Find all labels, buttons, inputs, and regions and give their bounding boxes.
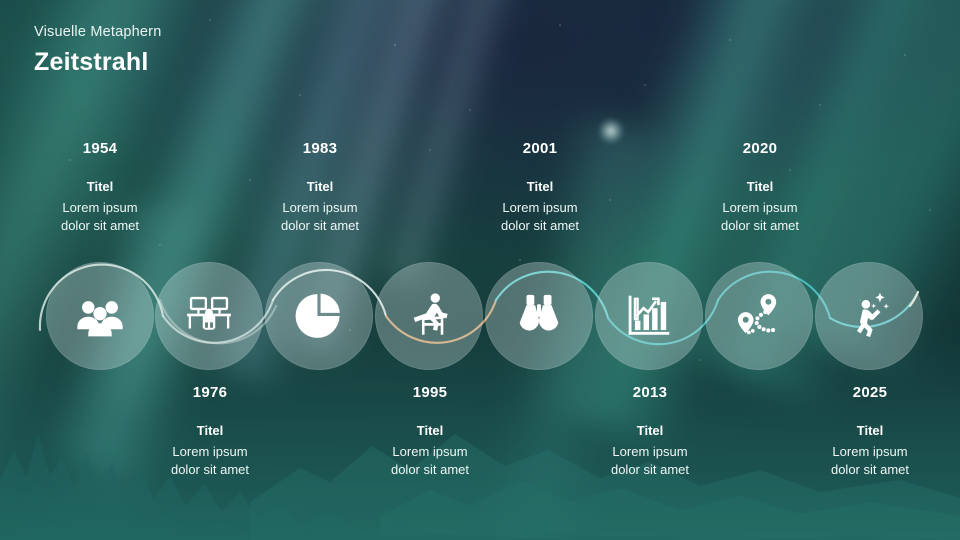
timeline-node-2001[interactable]	[485, 262, 593, 370]
timeline-text-1983: 1983 Titel Lorem ipsum dolor sit amet	[230, 140, 410, 236]
reach-star-icon	[815, 262, 923, 370]
timeline-text-1976: 1976 Titel Lorem ipsum dolor sit amet	[120, 384, 300, 480]
entry-desc-line2: dolor sit amet	[780, 461, 960, 479]
year-label: 2025	[780, 384, 960, 401]
entry-desc-line1: Lorem ipsum	[670, 199, 850, 217]
timeline-node-2025[interactable]	[815, 262, 923, 370]
entry-desc-line1: Lorem ipsum	[560, 443, 740, 461]
entry-title: Titel	[230, 179, 410, 194]
year-label: 1954	[10, 140, 190, 157]
year-label: 2001	[450, 140, 630, 157]
entry-desc-line1: Lorem ipsum	[340, 443, 520, 461]
entry-desc-line2: dolor sit amet	[450, 217, 630, 235]
entry-desc-line1: Lorem ipsum	[10, 199, 190, 217]
workstation-desk-icon	[155, 262, 263, 370]
year-label: 2020	[670, 140, 850, 157]
entry-desc-line1: Lorem ipsum	[450, 199, 630, 217]
year-label: 1976	[120, 384, 300, 401]
entry-title: Titel	[560, 423, 740, 438]
entry-desc-line2: dolor sit amet	[230, 217, 410, 235]
entry-title: Titel	[120, 423, 300, 438]
hurdle-runner-icon	[375, 262, 483, 370]
slide-canvas: Visuelle Metaphern Zeitstrahl	[0, 0, 960, 540]
year-label: 1983	[230, 140, 410, 157]
entry-title: Titel	[450, 179, 630, 194]
entry-title: Titel	[670, 179, 850, 194]
timeline-text-1995: 1995 Titel Lorem ipsum dolor sit amet	[340, 384, 520, 480]
entry-desc-line1: Lorem ipsum	[780, 443, 960, 461]
timeline-text-2013: 2013 Titel Lorem ipsum dolor sit amet	[560, 384, 740, 480]
timeline-node-2020[interactable]	[705, 262, 813, 370]
timeline-node-1983[interactable]	[265, 262, 373, 370]
entry-desc-line2: dolor sit amet	[340, 461, 520, 479]
timeline-node-1995[interactable]	[375, 262, 483, 370]
year-label: 2013	[560, 384, 740, 401]
timeline-text-2001: 2001 Titel Lorem ipsum dolor sit amet	[450, 140, 630, 236]
timeline-node-1954[interactable]	[46, 262, 154, 370]
timeline-node-2013[interactable]	[595, 262, 703, 370]
entry-desc-line2: dolor sit amet	[10, 217, 190, 235]
entry-desc-line2: dolor sit amet	[670, 217, 850, 235]
timeline-node-1976[interactable]	[155, 262, 263, 370]
route-map-pins-icon	[705, 262, 813, 370]
entry-desc-line1: Lorem ipsum	[120, 443, 300, 461]
timeline: 1954 Titel Lorem ipsum dolor sit amet	[0, 0, 960, 540]
bar-chart-growth-icon	[595, 262, 703, 370]
binoculars-icon	[485, 262, 593, 370]
year-label: 1995	[340, 384, 520, 401]
entry-title: Titel	[10, 179, 190, 194]
entry-desc-line2: dolor sit amet	[120, 461, 300, 479]
entry-desc-line1: Lorem ipsum	[230, 199, 410, 217]
entry-desc-line2: dolor sit amet	[560, 461, 740, 479]
entry-title: Titel	[340, 423, 520, 438]
people-group-icon	[46, 262, 154, 370]
timeline-text-2025: 2025 Titel Lorem ipsum dolor sit amet	[780, 384, 960, 480]
entry-title: Titel	[780, 423, 960, 438]
pie-chart-icon	[265, 262, 373, 370]
timeline-text-2020: 2020 Titel Lorem ipsum dolor sit amet	[670, 140, 850, 236]
timeline-text-1954: 1954 Titel Lorem ipsum dolor sit amet	[10, 140, 190, 236]
